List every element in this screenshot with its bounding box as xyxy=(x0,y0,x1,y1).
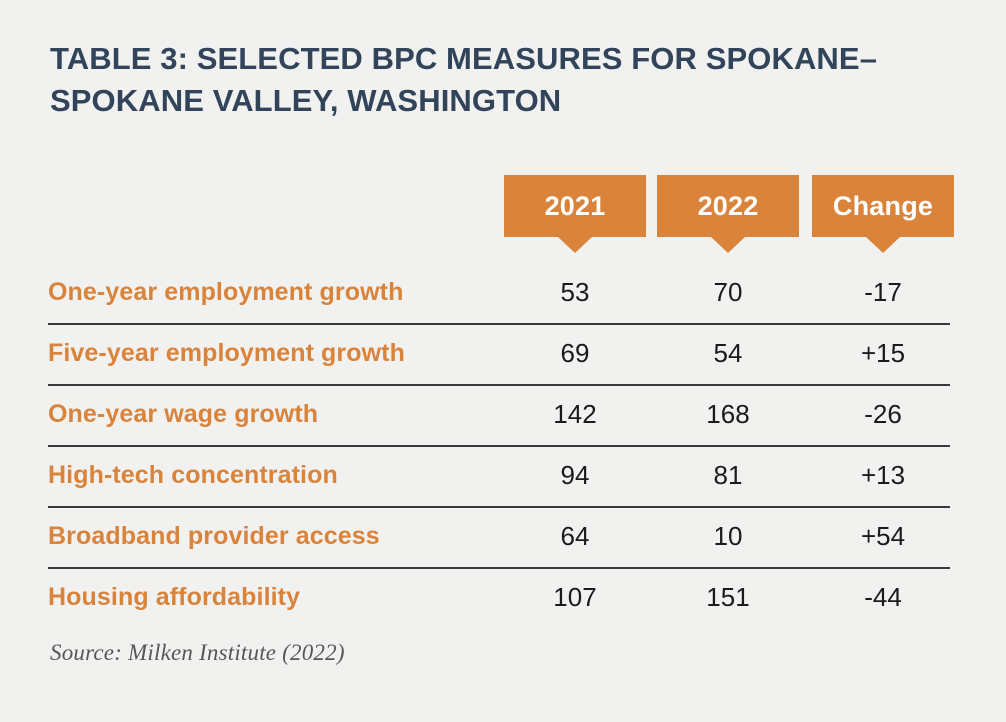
cell-change: -26 xyxy=(812,386,954,445)
page-title: TABLE 3: SELECTED BPC MEASURES FOR SPOKA… xyxy=(50,38,950,121)
column-header-banners: 2021 2022 Change xyxy=(0,175,1006,255)
cell-2021: 64 xyxy=(504,508,646,567)
measures-table: One-year employment growth 53 70 -17 Fiv… xyxy=(48,264,950,628)
table-row: High-tech concentration 94 81 +13 xyxy=(48,447,950,508)
cell-change: -17 xyxy=(812,264,954,323)
cell-2021: 142 xyxy=(504,386,646,445)
table-row: Broadband provider access 64 10 +54 xyxy=(48,508,950,569)
row-label: One-year employment growth xyxy=(48,264,403,323)
table-figure: TABLE 3: SELECTED BPC MEASURES FOR SPOKA… xyxy=(0,0,1006,722)
banner-tail-icon xyxy=(558,237,592,253)
cell-2022: 81 xyxy=(657,447,799,506)
table-row: One-year wage growth 142 168 -26 xyxy=(48,386,950,447)
row-label: High-tech concentration xyxy=(48,447,338,506)
cell-2022: 10 xyxy=(657,508,799,567)
cell-2022: 151 xyxy=(657,569,799,628)
cell-change: -44 xyxy=(812,569,954,628)
table-row: Housing affordability 107 151 -44 xyxy=(48,569,950,628)
banner-tail-icon xyxy=(866,237,900,253)
cell-change: +13 xyxy=(812,447,954,506)
row-label: Broadband provider access xyxy=(48,508,380,567)
cell-2021: 53 xyxy=(504,264,646,323)
column-header-2021: 2021 xyxy=(504,175,646,237)
table-row: One-year employment growth 53 70 -17 xyxy=(48,264,950,325)
cell-2022: 168 xyxy=(657,386,799,445)
column-header-2022-label: 2022 xyxy=(657,175,799,237)
cell-change: +15 xyxy=(812,325,954,384)
column-header-2021-label: 2021 xyxy=(504,175,646,237)
row-label: Five-year employment growth xyxy=(48,325,405,384)
banner-tail-icon xyxy=(711,237,745,253)
cell-2021: 94 xyxy=(504,447,646,506)
column-header-change-label: Change xyxy=(812,175,954,237)
cell-change: +54 xyxy=(812,508,954,567)
cell-2022: 70 xyxy=(657,264,799,323)
cell-2022: 54 xyxy=(657,325,799,384)
cell-2021: 69 xyxy=(504,325,646,384)
column-header-2022: 2022 xyxy=(657,175,799,237)
row-label: Housing affordability xyxy=(48,569,300,628)
row-label: One-year wage growth xyxy=(48,386,318,445)
column-header-change: Change xyxy=(812,175,954,237)
table-row: Five-year employment growth 69 54 +15 xyxy=(48,325,950,386)
cell-2021: 107 xyxy=(504,569,646,628)
source-note: Source: Milken Institute (2022) xyxy=(50,640,345,666)
